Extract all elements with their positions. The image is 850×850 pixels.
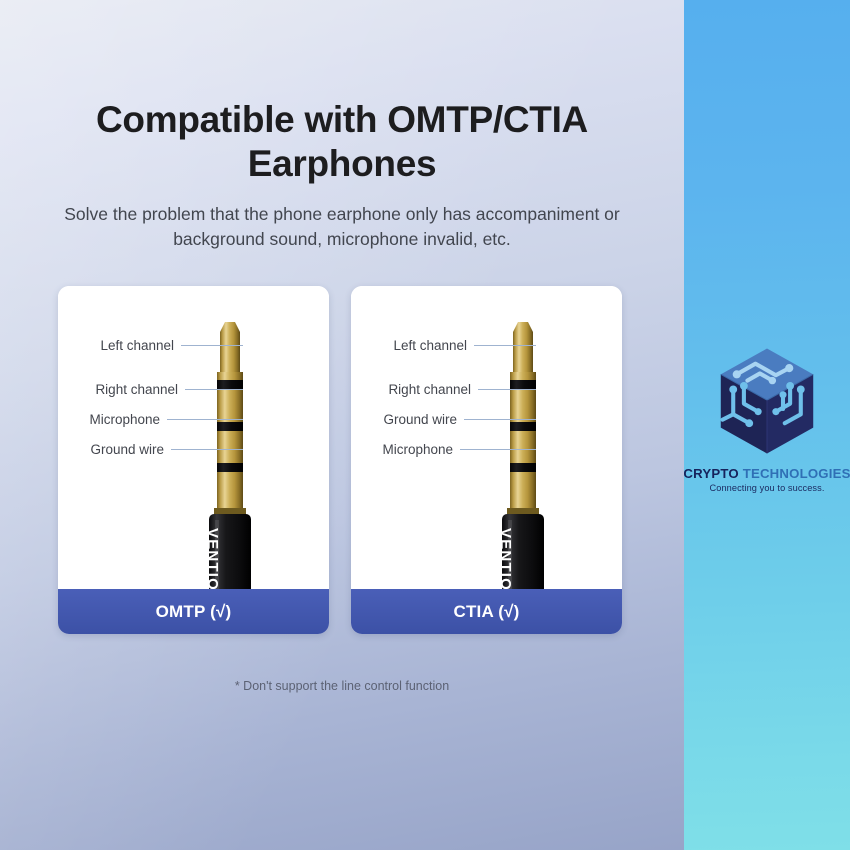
leader-line-icon — [464, 419, 536, 420]
card-omtp-body: VENTION Left channel Right channel Micro — [58, 286, 329, 589]
brand-panel: CRYPTO TECHNOLOGIES Connecting you to su… — [684, 0, 850, 850]
brand-name-part2: TECHNOLOGIES — [743, 466, 850, 481]
card-ctia: VENTION Left channel Right channel Groun… — [351, 286, 622, 634]
callout-ctia-0-text: Left channel — [393, 338, 467, 353]
callout-labels-ctia: Left channel Right channel Ground wire — [351, 286, 536, 589]
card-ctia-body: VENTION Left channel Right channel Groun… — [351, 286, 622, 589]
footnote: * Don't support the line control functio… — [0, 679, 684, 693]
card-omtp-footer-label: OMTP (√) — [58, 589, 329, 634]
leader-line-icon — [460, 449, 536, 450]
callout-ctia-3-text: Microphone — [382, 442, 453, 457]
callout-omtp-0: Left channel — [58, 337, 243, 353]
callout-omtp-1-text: Right channel — [95, 382, 178, 397]
page-subtitle: Solve the problem that the phone earphon… — [0, 202, 684, 253]
callout-ctia-3: Microphone — [351, 441, 536, 457]
leader-line-icon — [478, 389, 536, 390]
callout-omtp-1: Right channel — [58, 381, 243, 397]
callout-omtp-2-text: Microphone — [89, 412, 160, 427]
callout-ctia-2-text: Ground wire — [383, 412, 457, 427]
brand-name: CRYPTO TECHNOLOGIES — [684, 466, 850, 481]
callout-omtp-0-text: Left channel — [100, 338, 174, 353]
card-ctia-footer-label: CTIA (√) — [351, 589, 622, 634]
leader-line-icon — [181, 345, 243, 346]
leader-line-icon — [474, 345, 536, 346]
leader-line-icon — [185, 389, 243, 390]
callout-omtp-3-text: Ground wire — [90, 442, 164, 457]
leader-line-icon — [171, 449, 243, 450]
callout-ctia-0: Left channel — [351, 337, 536, 353]
leader-line-icon — [167, 419, 243, 420]
main-content-panel: Compatible with OMTP/CTIA Earphones Solv… — [0, 0, 684, 850]
page-title: Compatible with OMTP/CTIA Earphones — [0, 98, 684, 185]
card-omtp: VENTION Left channel Right channel Micro — [58, 286, 329, 634]
callout-ctia-1: Right channel — [351, 381, 536, 397]
callout-ctia-1-text: Right channel — [388, 382, 471, 397]
brand-lockup: CRYPTO TECHNOLOGIES Connecting you to su… — [684, 345, 850, 493]
callout-omtp-2: Microphone — [58, 411, 243, 427]
standards-card-group: VENTION Left channel Right channel Micro — [58, 286, 622, 634]
callout-labels-omtp: Left channel Right channel Microphone — [58, 286, 243, 589]
callout-omtp-3: Ground wire — [58, 441, 243, 457]
brand-tagline: Connecting you to success. — [710, 483, 825, 493]
brand-name-part1: CRYPTO — [684, 466, 739, 481]
product-feature-poster: Compatible with OMTP/CTIA Earphones Solv… — [0, 0, 850, 850]
hexagon-circuit-cube-icon — [713, 345, 821, 457]
callout-ctia-2: Ground wire — [351, 411, 536, 427]
